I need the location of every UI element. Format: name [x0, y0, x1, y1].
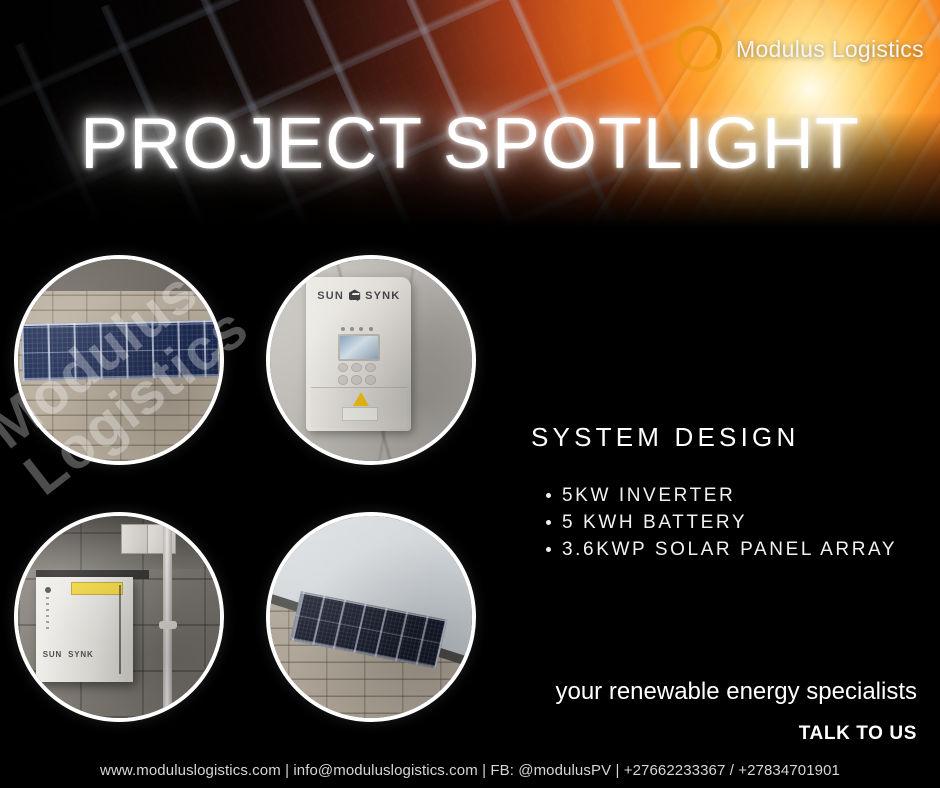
photo-lighting-grain — [18, 259, 220, 461]
system-design-spec-list: 5KW INVERTER 5 KWH BATTERY 3.6KWP SOLAR … — [540, 482, 897, 563]
spec-item: 5 KWH BATTERY — [562, 509, 897, 536]
system-design-heading: SYSTEM DESIGN — [531, 422, 799, 453]
brand-logo: Modulus Logistics — [676, 26, 924, 72]
orange-ring-logo-icon — [670, 20, 728, 78]
brand-name: Modulus Logistics — [736, 36, 924, 63]
tagline: your renewable energy specialists — [0, 678, 917, 706]
contact-footer: www.moduluslogistics.com | info@modulusl… — [0, 762, 940, 779]
photo-content: SUN SYNK — [270, 259, 472, 461]
spec-item: 5KW INVERTER — [562, 482, 897, 509]
page-title: PROJECT SPOTLIGHT — [0, 108, 940, 180]
project-spotlight-poster: Modulus Logistics PROJECT SPOTLIGHT SUN … — [0, 0, 940, 788]
spec-item: 3.6KWP SOLAR PANEL ARRAY — [562, 536, 897, 563]
photo-lighting-grain — [270, 259, 472, 461]
call-to-action[interactable]: TALK TO US — [0, 723, 917, 745]
gallery-photo-sunsynk-inverter: SUN SYNK — [266, 255, 476, 465]
gallery-photo-wall-solar-array — [14, 255, 224, 465]
photo-content — [18, 259, 220, 461]
